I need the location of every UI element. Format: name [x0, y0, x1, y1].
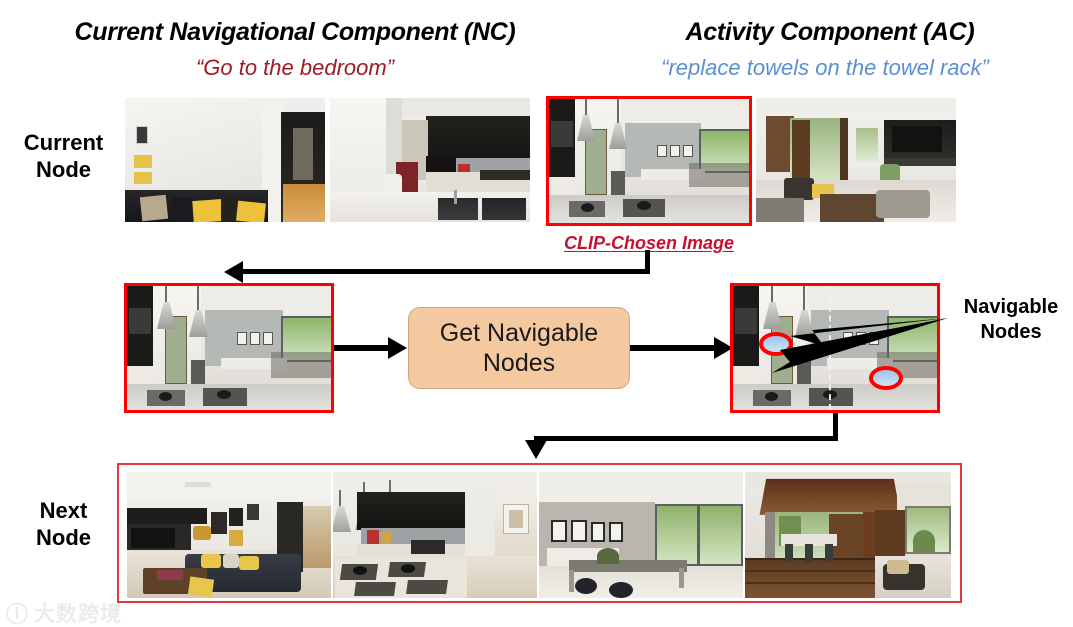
- arrow-result-to-next-head: [525, 440, 547, 459]
- next-node-image-group: [117, 463, 962, 603]
- nav-component-instruction: “Go to the bedroom”: [55, 55, 535, 81]
- next-node-image-2[interactable]: [333, 472, 537, 598]
- arrow-process-to-result-line: [630, 345, 714, 351]
- current-node-image-1[interactable]: [125, 98, 325, 222]
- current-node-image-4[interactable]: [756, 98, 956, 222]
- arrow-clip-to-current-head: [224, 261, 243, 283]
- view-split-dashed-line: [829, 286, 831, 410]
- navigable-node-marker-left[interactable]: [759, 332, 793, 356]
- middle-current-node-image[interactable]: [124, 283, 334, 413]
- arrow-image-to-process-head: [388, 337, 407, 359]
- current-node-image-2[interactable]: [330, 98, 530, 222]
- current-node-image-3-clip-chosen[interactable]: [546, 96, 752, 226]
- navigable-node-marker-right[interactable]: [869, 366, 903, 390]
- activity-component-instruction: “replace towels on the towel rack”: [585, 55, 1065, 81]
- arrow-image-to-process-line: [334, 345, 388, 351]
- nav-component-title: Current Navigational Component (NC): [55, 18, 535, 47]
- arrow-result-to-next-horizontal: [534, 436, 838, 441]
- get-navigable-nodes-process-box[interactable]: Get Navigable Nodes: [408, 307, 630, 389]
- next-node-row-label: Next Node: [6, 498, 121, 552]
- current-node-row-label: Current Node: [6, 130, 121, 184]
- watermark-logo-icon: ⓘ: [6, 597, 28, 627]
- watermark-text: 大数跨境: [34, 598, 122, 627]
- watermark: ⓘ 大数跨境: [6, 597, 122, 627]
- next-node-image-4[interactable]: [745, 472, 951, 598]
- figure-canvas: Current Navigational Component (NC) “Go …: [0, 0, 1073, 627]
- activity-component-title: Activity Component (AC): [605, 18, 1055, 47]
- next-node-image-1[interactable]: [127, 472, 331, 598]
- next-node-image-3[interactable]: [539, 472, 743, 598]
- navigable-nodes-annotation-label: Navigable Nodes: [952, 295, 1070, 345]
- navigable-nodes-result-image[interactable]: [730, 283, 940, 413]
- arrow-clip-to-current-horizontal: [243, 269, 650, 274]
